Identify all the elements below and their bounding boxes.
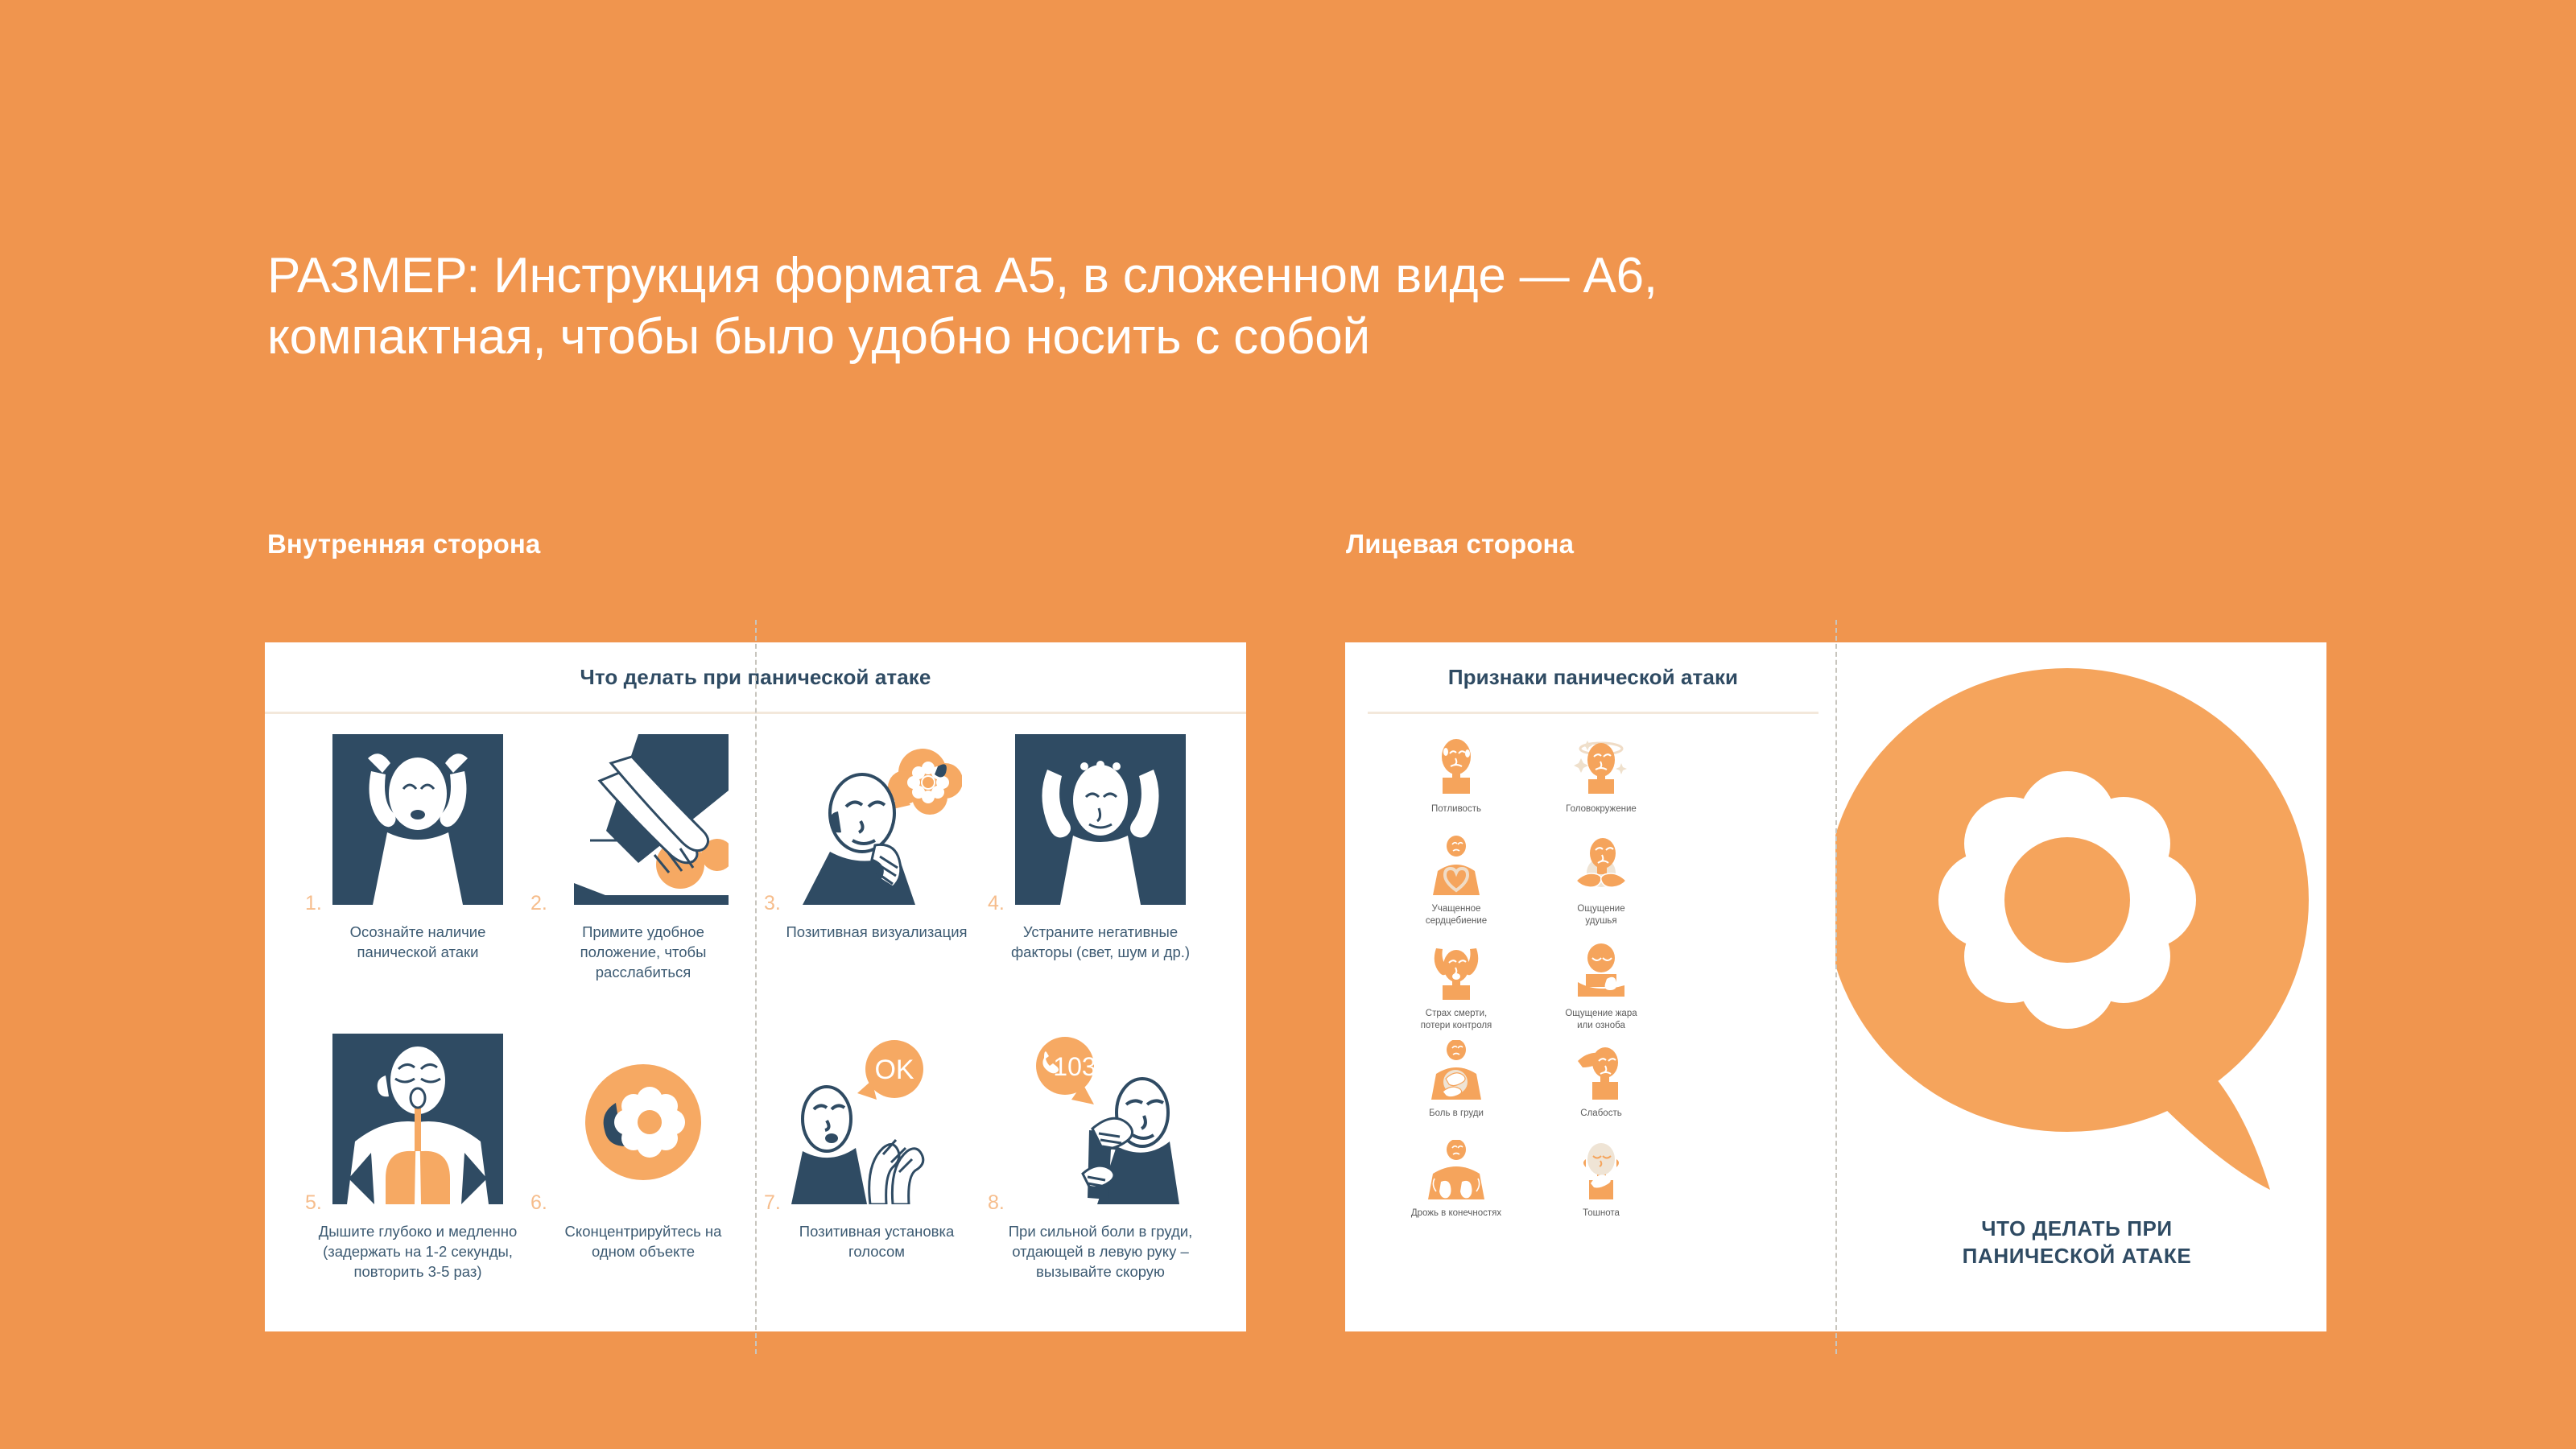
- symptom-item: Тошнота: [1529, 1140, 1674, 1220]
- hands-over-ears-icon: [1015, 734, 1186, 905]
- calm-person-thought-bubble-icon: [791, 734, 962, 905]
- choking-icon: [1570, 836, 1633, 898]
- symptom-item: Учащенное сердцебиение: [1384, 836, 1529, 927]
- chest-pain-icon: [1425, 1040, 1488, 1103]
- step-item: 2. Примите удобное положение, чтобы расс…: [530, 734, 756, 982]
- head-in-hands-icon: [332, 734, 503, 905]
- hands-on-knee-icon: [558, 734, 729, 905]
- step-caption: При сильной боли в груди, отдающей в лев…: [988, 1222, 1213, 1282]
- dizzy-head-icon: [1570, 736, 1633, 799]
- front-card-title: Признаки панической атаки: [1368, 665, 1818, 690]
- symptom-label: Потливость: [1384, 803, 1529, 815]
- emergency-number-label: 103: [1053, 1052, 1096, 1081]
- symptom-item: Головокружение: [1529, 736, 1674, 815]
- fold-line-front: [1835, 620, 1837, 1354]
- step-item: 103: [988, 1034, 1213, 1282]
- symptom-item: Боль в груди: [1384, 1040, 1529, 1120]
- step-item: 3. Позитивная визуализация: [764, 734, 989, 943]
- step-number: 5.: [305, 1191, 322, 1215]
- symptom-label: Ощущение удушья: [1529, 903, 1674, 927]
- label-inner-side: Внутренняя сторона: [267, 529, 540, 559]
- symptom-item: Слабость: [1529, 1040, 1674, 1120]
- step-number: 7.: [764, 1191, 781, 1215]
- symptom-item: Ощущение удушья: [1529, 836, 1674, 927]
- step-caption: Сконцентрируйтесь на одном объекте: [530, 1222, 756, 1262]
- breathing-lungs-icon: [332, 1034, 503, 1204]
- symptom-item: Ощущение жара или озноба: [1529, 940, 1674, 1032]
- nausea-icon: [1570, 1140, 1633, 1203]
- symptom-label: Слабость: [1529, 1108, 1674, 1120]
- fear-of-death-icon: [1425, 940, 1488, 1003]
- symptom-label: Дрожь в конечностях: [1384, 1207, 1529, 1220]
- step-caption: Позитивная визуализация: [764, 923, 989, 943]
- symptom-label: Тошнота: [1529, 1207, 1674, 1220]
- step-number: 8.: [988, 1191, 1005, 1215]
- label-front-side: Лицевая сторона: [1346, 529, 1574, 559]
- symptom-label: Страх смерти, потери контроля: [1384, 1008, 1529, 1032]
- step-item: 4. Устраните негативные факторы (свет, ш…: [988, 734, 1213, 963]
- step-number: 4.: [988, 892, 1005, 915]
- step-caption: Дышите глубоко и медленно (задержать на …: [305, 1222, 530, 1282]
- step-item: 6. Сконцентрируйтесь на одном объекте: [530, 1034, 756, 1262]
- symptom-item: Потливость: [1384, 736, 1529, 815]
- flower-focus-circle-icon: [558, 1034, 729, 1204]
- speaking-ok-bubble-icon: OK: [791, 1034, 962, 1204]
- trembling-limbs-icon: [1425, 1140, 1488, 1203]
- fast-heartbeat-icon: [1425, 836, 1488, 898]
- fold-line-inner: [755, 620, 757, 1354]
- step-number: 2.: [530, 892, 547, 915]
- page-title: РАЗМЕР: Инструкция формата А5, в сложенн…: [267, 246, 2199, 367]
- weakness-icon: [1570, 1040, 1633, 1103]
- step-number: 6.: [530, 1191, 547, 1215]
- sweating-face-icon: [1425, 736, 1488, 799]
- step-caption: Устраните негативные факторы (свет, шум …: [988, 923, 1213, 963]
- step-caption: Примите удобное положение, чтобы расслаб…: [530, 923, 756, 982]
- symptom-label: Ощущение жара или озноба: [1529, 1008, 1674, 1032]
- symptom-label: Головокружение: [1529, 803, 1674, 815]
- cover-title: ЧТО ДЕЛАТЬ ПРИ ПАНИЧЕСКОЙ АТАКЕ: [1835, 1216, 2318, 1270]
- symptom-label: Боль в груди: [1384, 1108, 1529, 1120]
- step-item: OK: [764, 1034, 989, 1262]
- step-caption: Позитивная установка голосом: [764, 1222, 989, 1262]
- hot-or-chills-icon: [1570, 940, 1633, 1003]
- chest-pain-call-icon: 103: [1015, 1034, 1186, 1204]
- front-card-divider: [1368, 712, 1818, 714]
- step-caption: Осознайте наличие панической атаки: [305, 923, 530, 963]
- step-number: 3.: [764, 892, 781, 915]
- symptom-label: Учащенное сердцебиение: [1384, 903, 1529, 927]
- step-number: 1.: [305, 892, 322, 915]
- speech-bubble-flower-icon: [1835, 667, 2318, 1198]
- symptom-item: Дрожь в конечностях: [1384, 1140, 1529, 1220]
- symptom-item: Страх смерти, потери контроля: [1384, 940, 1529, 1032]
- ok-bubble-label: OK: [874, 1055, 914, 1085]
- step-item: 1. Осознайте наличие панической атаки: [305, 734, 530, 963]
- step-item: 5. Дышите глубоко и медленно (задержать …: [305, 1034, 530, 1282]
